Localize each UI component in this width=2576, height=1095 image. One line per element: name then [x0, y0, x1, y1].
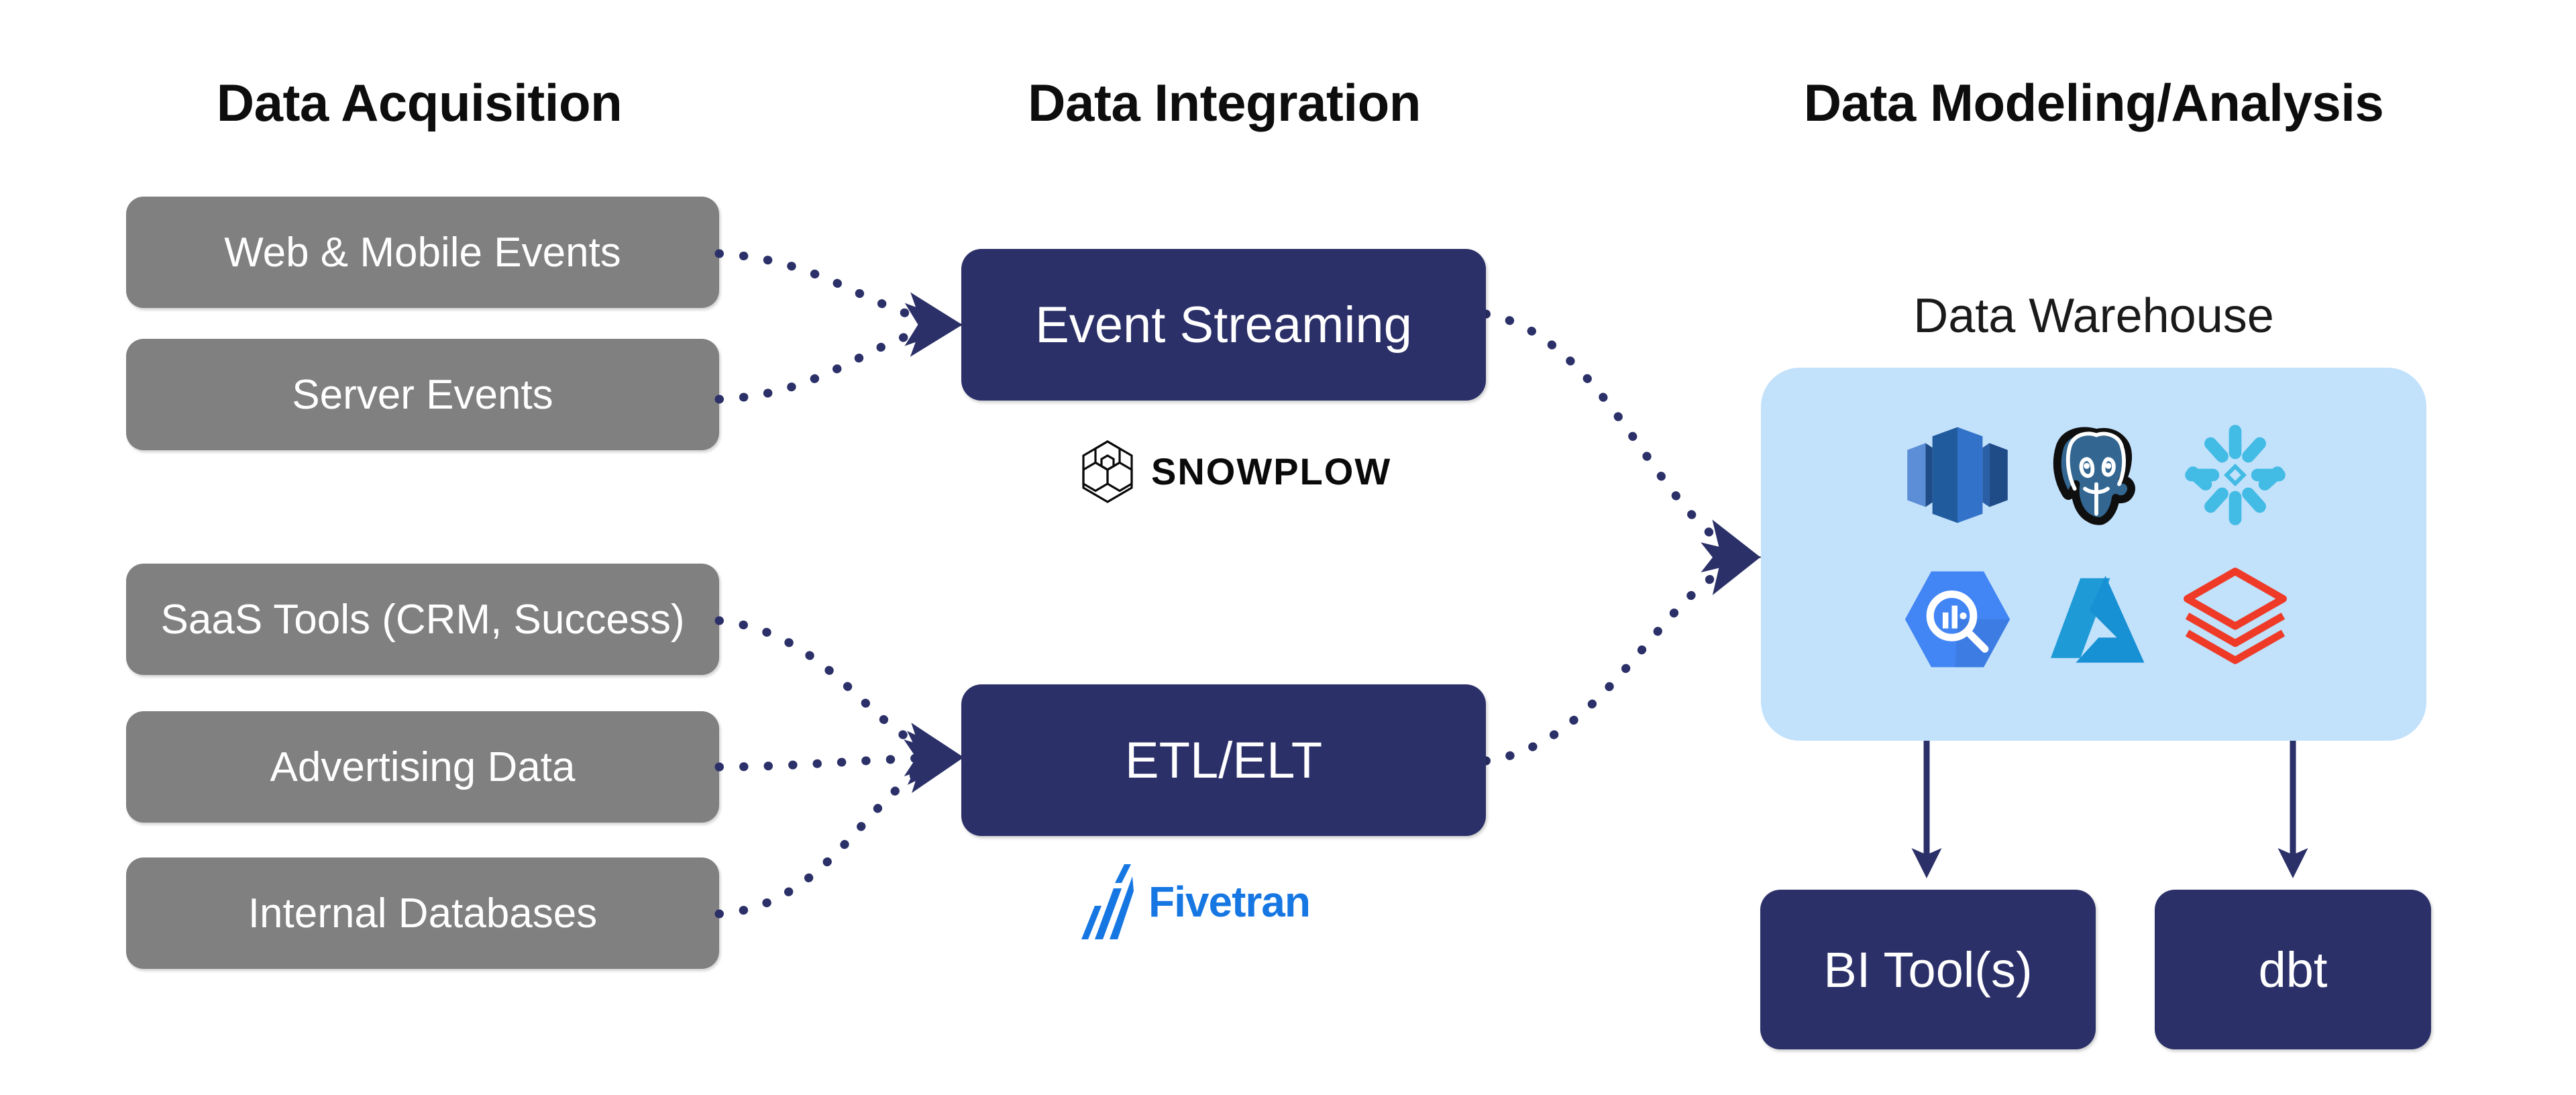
column-header-data-modeling-analysis: Data Modeling/Analysis [1804, 72, 2384, 134]
databricks-icon[interactable] [2178, 562, 2292, 676]
vendor-name: SNOWPLOW [1151, 453, 1391, 490]
column-header-data-acquisition: Data Acquisition [217, 72, 623, 134]
process-box-event-streaming[interactable]: Event Streaming [961, 249, 1486, 401]
connector-web-events-to-event-streaming [719, 254, 953, 324]
process-label: Event Streaming [1035, 296, 1412, 354]
source-box-advertising-data[interactable]: Advertising Data [126, 711, 719, 823]
source-label: Server Events [292, 371, 553, 419]
source-box-internal-databases[interactable]: Internal Databases [126, 857, 719, 969]
output-box-bi-tools[interactable]: BI Tool(s) [1760, 890, 2096, 1049]
vendor-name: Fivetran [1148, 880, 1310, 923]
snowflake-icon[interactable] [2178, 418, 2292, 532]
fivetran-bars-icon [1080, 864, 1134, 939]
diagram-canvas: Data Acquisition Data Integration Data M… [0, 0, 2576, 1095]
bigquery-icon[interactable] [1900, 562, 2015, 676]
column-header-data-integration: Data Integration [1028, 72, 1421, 134]
connector-event-streaming-to-warehouse [1486, 314, 1751, 556]
connector-server-events-to-event-streaming [719, 325, 953, 399]
connector-advertising-data-to-etl [719, 758, 953, 767]
postgresql-elephant-icon[interactable] [2039, 418, 2153, 532]
output-label: BI Tool(s) [1823, 941, 2032, 998]
process-label: ETL/ELT [1125, 731, 1322, 790]
warehouse-title: Data Warehouse [1913, 289, 2274, 344]
source-box-web-mobile-events[interactable]: Web & Mobile Events [126, 197, 719, 308]
connector-saas-tools-to-etl [719, 621, 953, 755]
source-label: Advertising Data [270, 743, 576, 791]
azure-icon[interactable] [2039, 562, 2153, 676]
source-label: Internal Databases [248, 890, 597, 937]
source-label: SaaS Tools (CRM, Success) [161, 596, 685, 643]
source-label: Web & Mobile Events [224, 229, 621, 276]
output-label: dbt [2259, 941, 2328, 998]
snowplow-hex-icon [1079, 439, 1136, 504]
source-box-saas-tools[interactable]: SaaS Tools (CRM, Success) [126, 564, 719, 675]
redshift-icon[interactable] [1900, 418, 2015, 532]
output-box-dbt[interactable]: dbt [2155, 890, 2431, 1049]
vendor-logo-snowplow: SNOWPLOW [1079, 439, 1391, 504]
process-box-etl-elt[interactable]: ETL/ELT [961, 684, 1486, 836]
connector-internal-databases-to-etl [719, 760, 953, 914]
connector-etl-to-warehouse [1486, 559, 1751, 761]
vendor-logo-fivetran: Fivetran [1080, 864, 1310, 939]
source-box-server-events[interactable]: Server Events [126, 339, 719, 450]
warehouse-platform-grid [1888, 403, 2304, 691]
